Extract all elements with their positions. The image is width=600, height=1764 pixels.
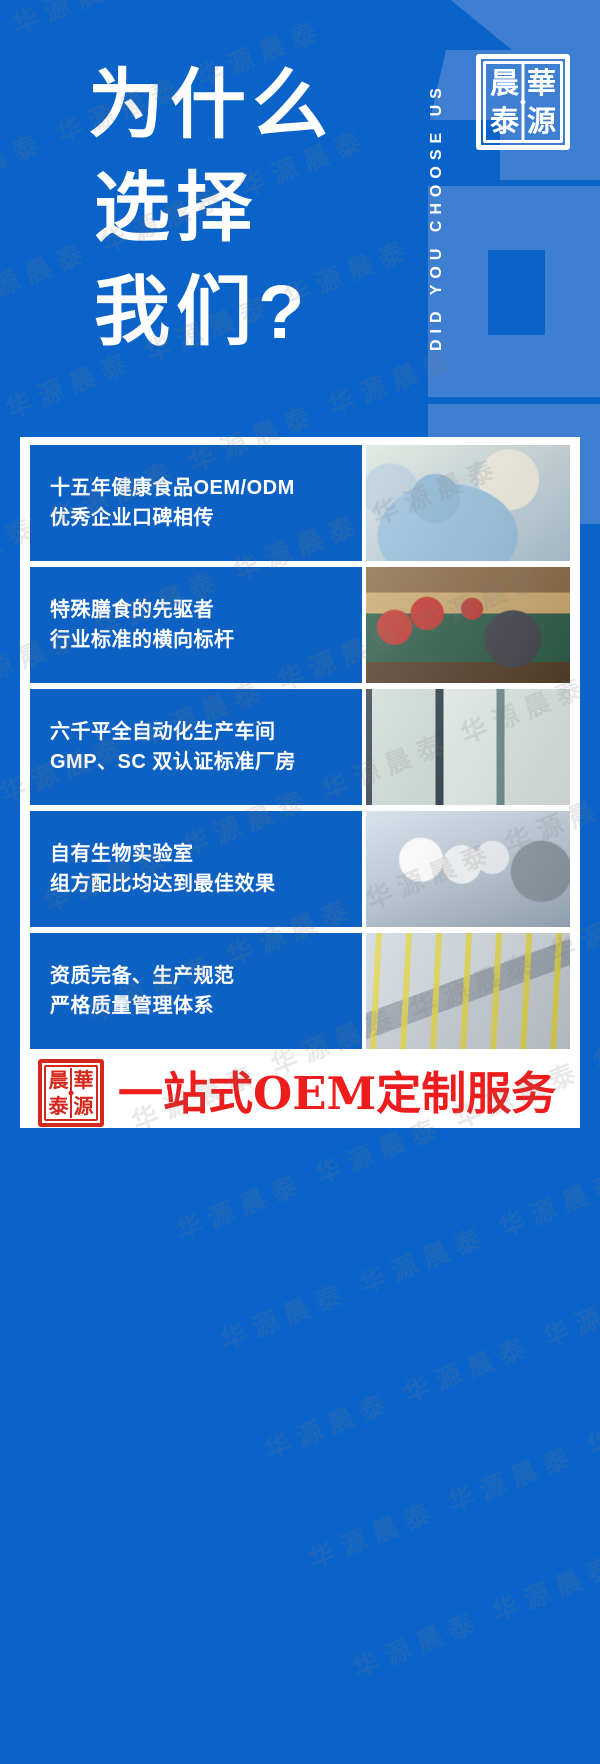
watermark-tile: 华源晨泰 (530, 1267, 600, 1433)
seal-char-yuan: 源 (523, 102, 560, 140)
watermark-tile: 华源晨泰 (340, 1598, 523, 1764)
header-section: 为什么 选择 我们? DID YOU CHOOSE US 華 源 晨 泰 (0, 0, 600, 437)
feature-line-2: 严格质量管理体系 (50, 991, 342, 1021)
watermark-tile: 华源晨泰 (435, 1432, 600, 1598)
watermark-tile: 华源晨泰 (479, 1542, 600, 1708)
feature-row: 特殊膳食的先驱者 行业标准的横向标杆 (30, 567, 570, 683)
feature-photo (366, 933, 570, 1049)
feature-photo (366, 811, 570, 927)
seal-center-dot (69, 1091, 74, 1096)
feature-row: 十五年健康食品OEM/ODM 优秀企业口碑相传 (30, 445, 570, 561)
seal-char-yuan: 源 (71, 1093, 96, 1119)
feature-line-1: 自有生物实验室 (50, 839, 342, 869)
bottom-banner: 華 源 晨 泰 一站式OEM定制服务 (38, 1055, 570, 1131)
watermark-tile: 华源晨泰 (574, 1376, 600, 1542)
seal-center-dot (521, 100, 526, 105)
headline-line-2: 选择 (88, 157, 418, 260)
photo-sheen (366, 567, 570, 683)
watermark-tile: 华源晨泰 (347, 1214, 530, 1380)
feature-text-card: 特殊膳食的先驱者 行业标准的横向标杆 (30, 567, 362, 683)
watermark-tile: 华源晨泰 (208, 1270, 391, 1436)
feature-line-2: 优秀企业口碑相传 (50, 503, 342, 533)
seal-char-hua: 華 (71, 1067, 96, 1093)
seal-char-tai: 泰 (486, 102, 523, 140)
headline-line-1: 为什么 (88, 54, 418, 157)
photo-sheen (366, 811, 570, 927)
banner-slogan: 一站式OEM定制服务 (118, 1071, 556, 1116)
seal-char-chen: 晨 (46, 1067, 71, 1093)
feature-line-1: 六千平全自动化生产车间 (50, 717, 342, 747)
seal-char-hua: 華 (523, 64, 560, 102)
feature-photo (366, 445, 570, 561)
feature-photo (366, 567, 570, 683)
photo-sheen (366, 933, 570, 1049)
features-panel: 十五年健康食品OEM/ODM 优秀企业口碑相传 特殊膳食的先驱者 行业标准的横向… (20, 437, 580, 1128)
photo-sheen (366, 689, 570, 805)
photo-sheen (366, 445, 570, 561)
watermark-tile: 华源晨泰 (296, 1489, 479, 1655)
feature-line-2: GMP、SC 双认证标准厂房 (50, 747, 342, 777)
feature-text-card: 十五年健康食品OEM/ODM 优秀企业口碑相传 (30, 445, 362, 561)
page-title: 为什么 选择 我们? (88, 54, 418, 364)
feature-text-card: 自有生物实验室 组方配比均达到最佳效果 (30, 811, 362, 927)
feature-line-1: 特殊膳食的先驱者 (50, 595, 342, 625)
company-seal-logo: 華 源 晨 泰 (476, 54, 570, 150)
watermark-tile: 华源晨泰 (391, 1323, 574, 1489)
seal-char-chen: 晨 (486, 64, 523, 102)
headline-line-3: 我们? (88, 261, 418, 364)
feature-row: 六千平全自动化生产车间 GMP、SC 双认证标准厂房 (30, 689, 570, 805)
watermark-tile: 华源晨泰 (252, 1379, 435, 1545)
feature-text-card: 资质完备、生产规范 严格质量管理体系 (30, 933, 362, 1049)
feature-line-1: 十五年健康食品OEM/ODM (50, 473, 342, 503)
feature-text-card: 六千平全自动化生产车间 GMP、SC 双认证标准厂房 (30, 689, 362, 805)
feature-row: 资质完备、生产规范 严格质量管理体系 (30, 933, 570, 1049)
vertical-tagline: DID YOU CHOOSE US (416, 22, 446, 412)
feature-line-2: 行业标准的横向标杆 (50, 625, 342, 655)
company-seal-logo-red: 華 源 晨 泰 (38, 1059, 104, 1127)
feature-photo (366, 689, 570, 805)
seal-char-tai: 泰 (46, 1093, 71, 1119)
feature-line-2: 组方配比均达到最佳效果 (50, 869, 342, 899)
feature-line-1: 资质完备、生产规范 (50, 961, 342, 991)
feature-row: 自有生物实验室 组方配比均达到最佳效果 (30, 811, 570, 927)
